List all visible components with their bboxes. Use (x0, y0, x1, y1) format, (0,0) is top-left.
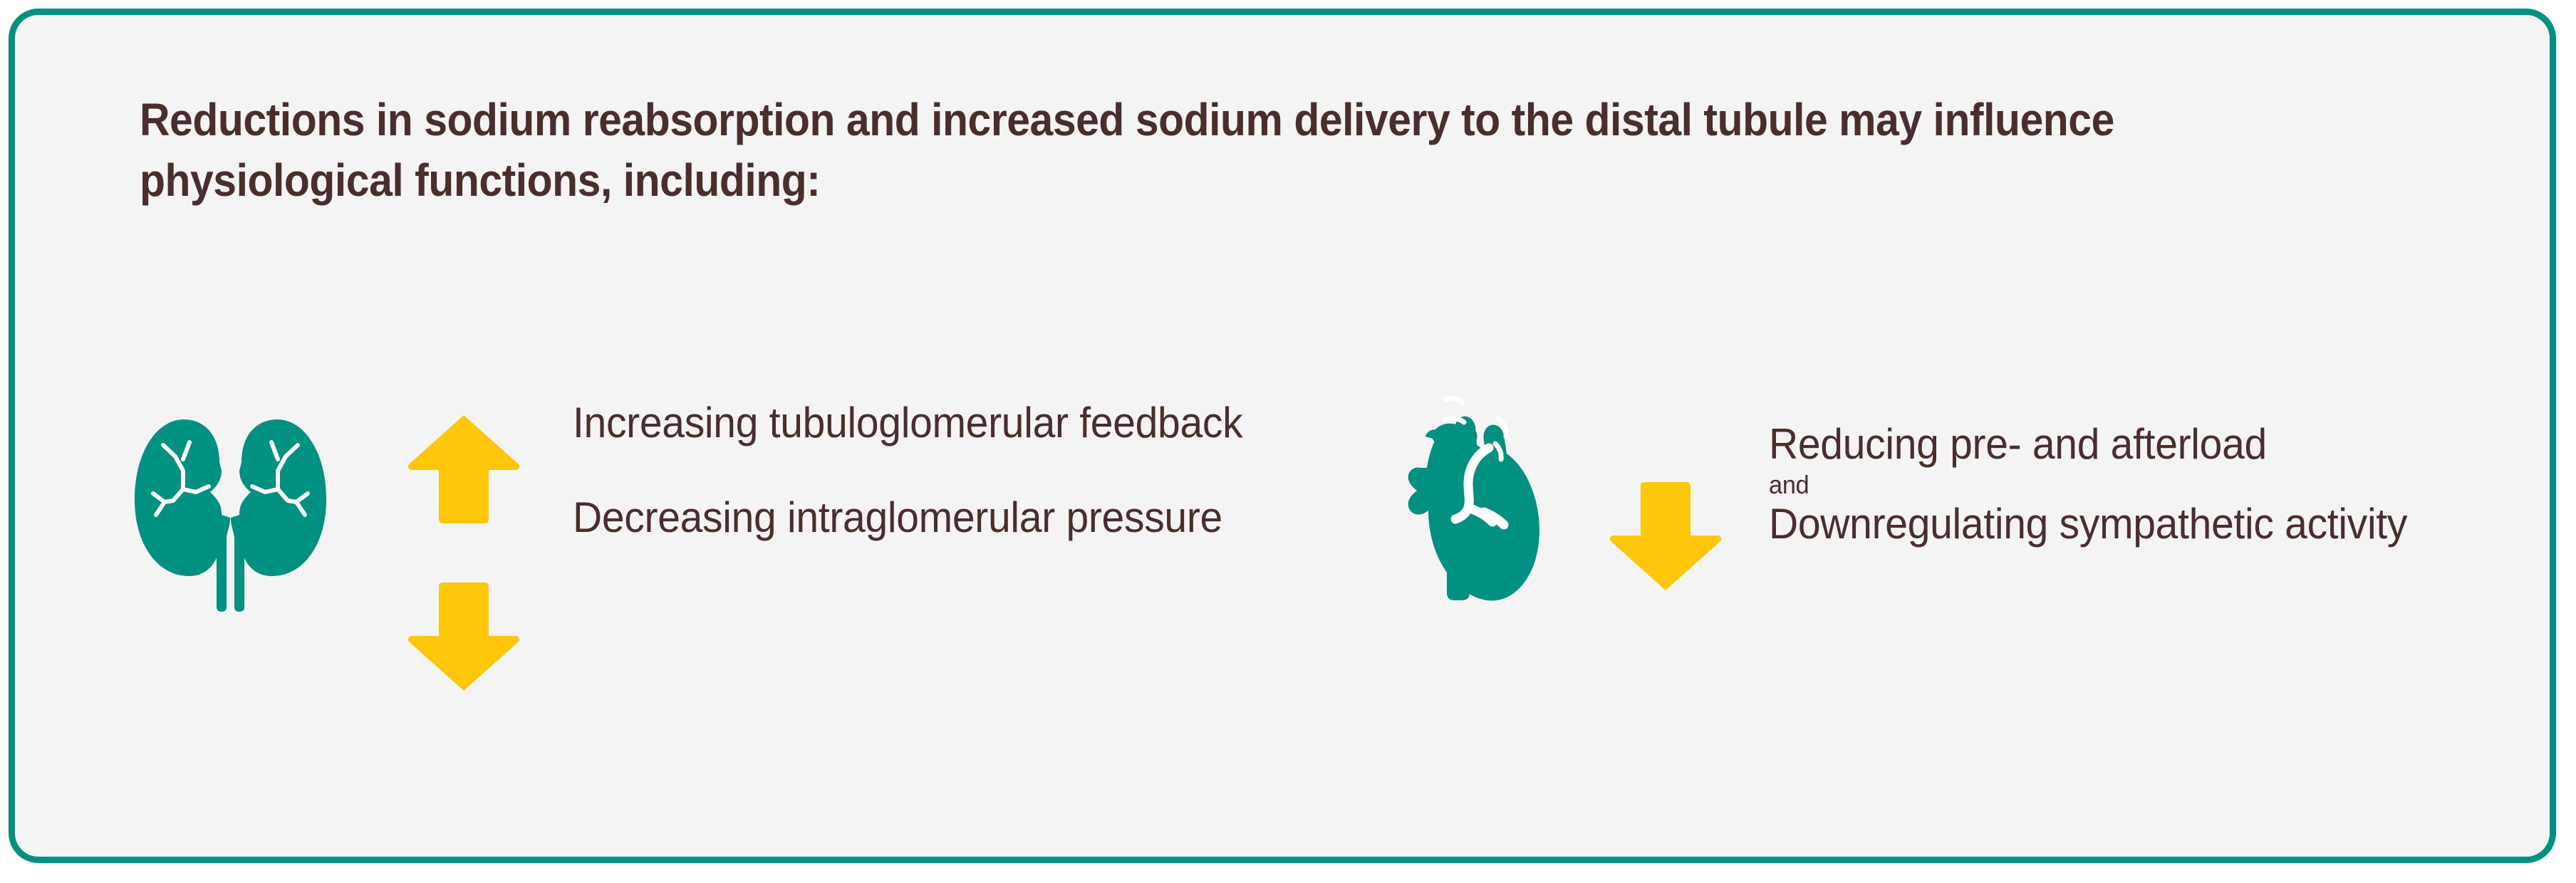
kidney-panel: Increasing tubuloglomerular feedback Dec… (122, 385, 1328, 696)
page-title: Reductions in sodium reabsorption and in… (140, 90, 2290, 211)
heart-statement-connector: and (1769, 470, 2513, 499)
kidneys-icon (122, 385, 339, 624)
slide-frame: Reductions in sodium reabsorption and in… (9, 9, 2556, 863)
kidney-statement-column: Increasing tubuloglomerular feedback Dec… (573, 398, 1328, 543)
down-arrow-icon (1606, 478, 1725, 596)
down-arrow-icon (405, 578, 523, 696)
physiology-panels: Increasing tubuloglomerular feedback Dec… (15, 371, 2550, 741)
kidney-statement-2: Decreasing intraglomerular pressure (573, 493, 1290, 543)
heart-statement-column: Reducing pre- and afterload and Downregu… (1769, 419, 2552, 550)
up-arrow-icon (405, 409, 523, 528)
kidney-arrow-column (405, 409, 523, 696)
heart-statement-2: Downregulating sympathetic activity (1769, 499, 2513, 550)
statement-spacer (573, 449, 1328, 493)
heart-icon (1390, 392, 1555, 613)
heart-statement-1: Reducing pre- and afterload (1769, 419, 2513, 470)
kidney-statement-1: Increasing tubuloglomerular feedback (573, 398, 1290, 449)
heart-panel: Reducing pre- and afterload and Downregu… (1390, 392, 2552, 613)
heart-arrow-column (1606, 478, 1725, 596)
